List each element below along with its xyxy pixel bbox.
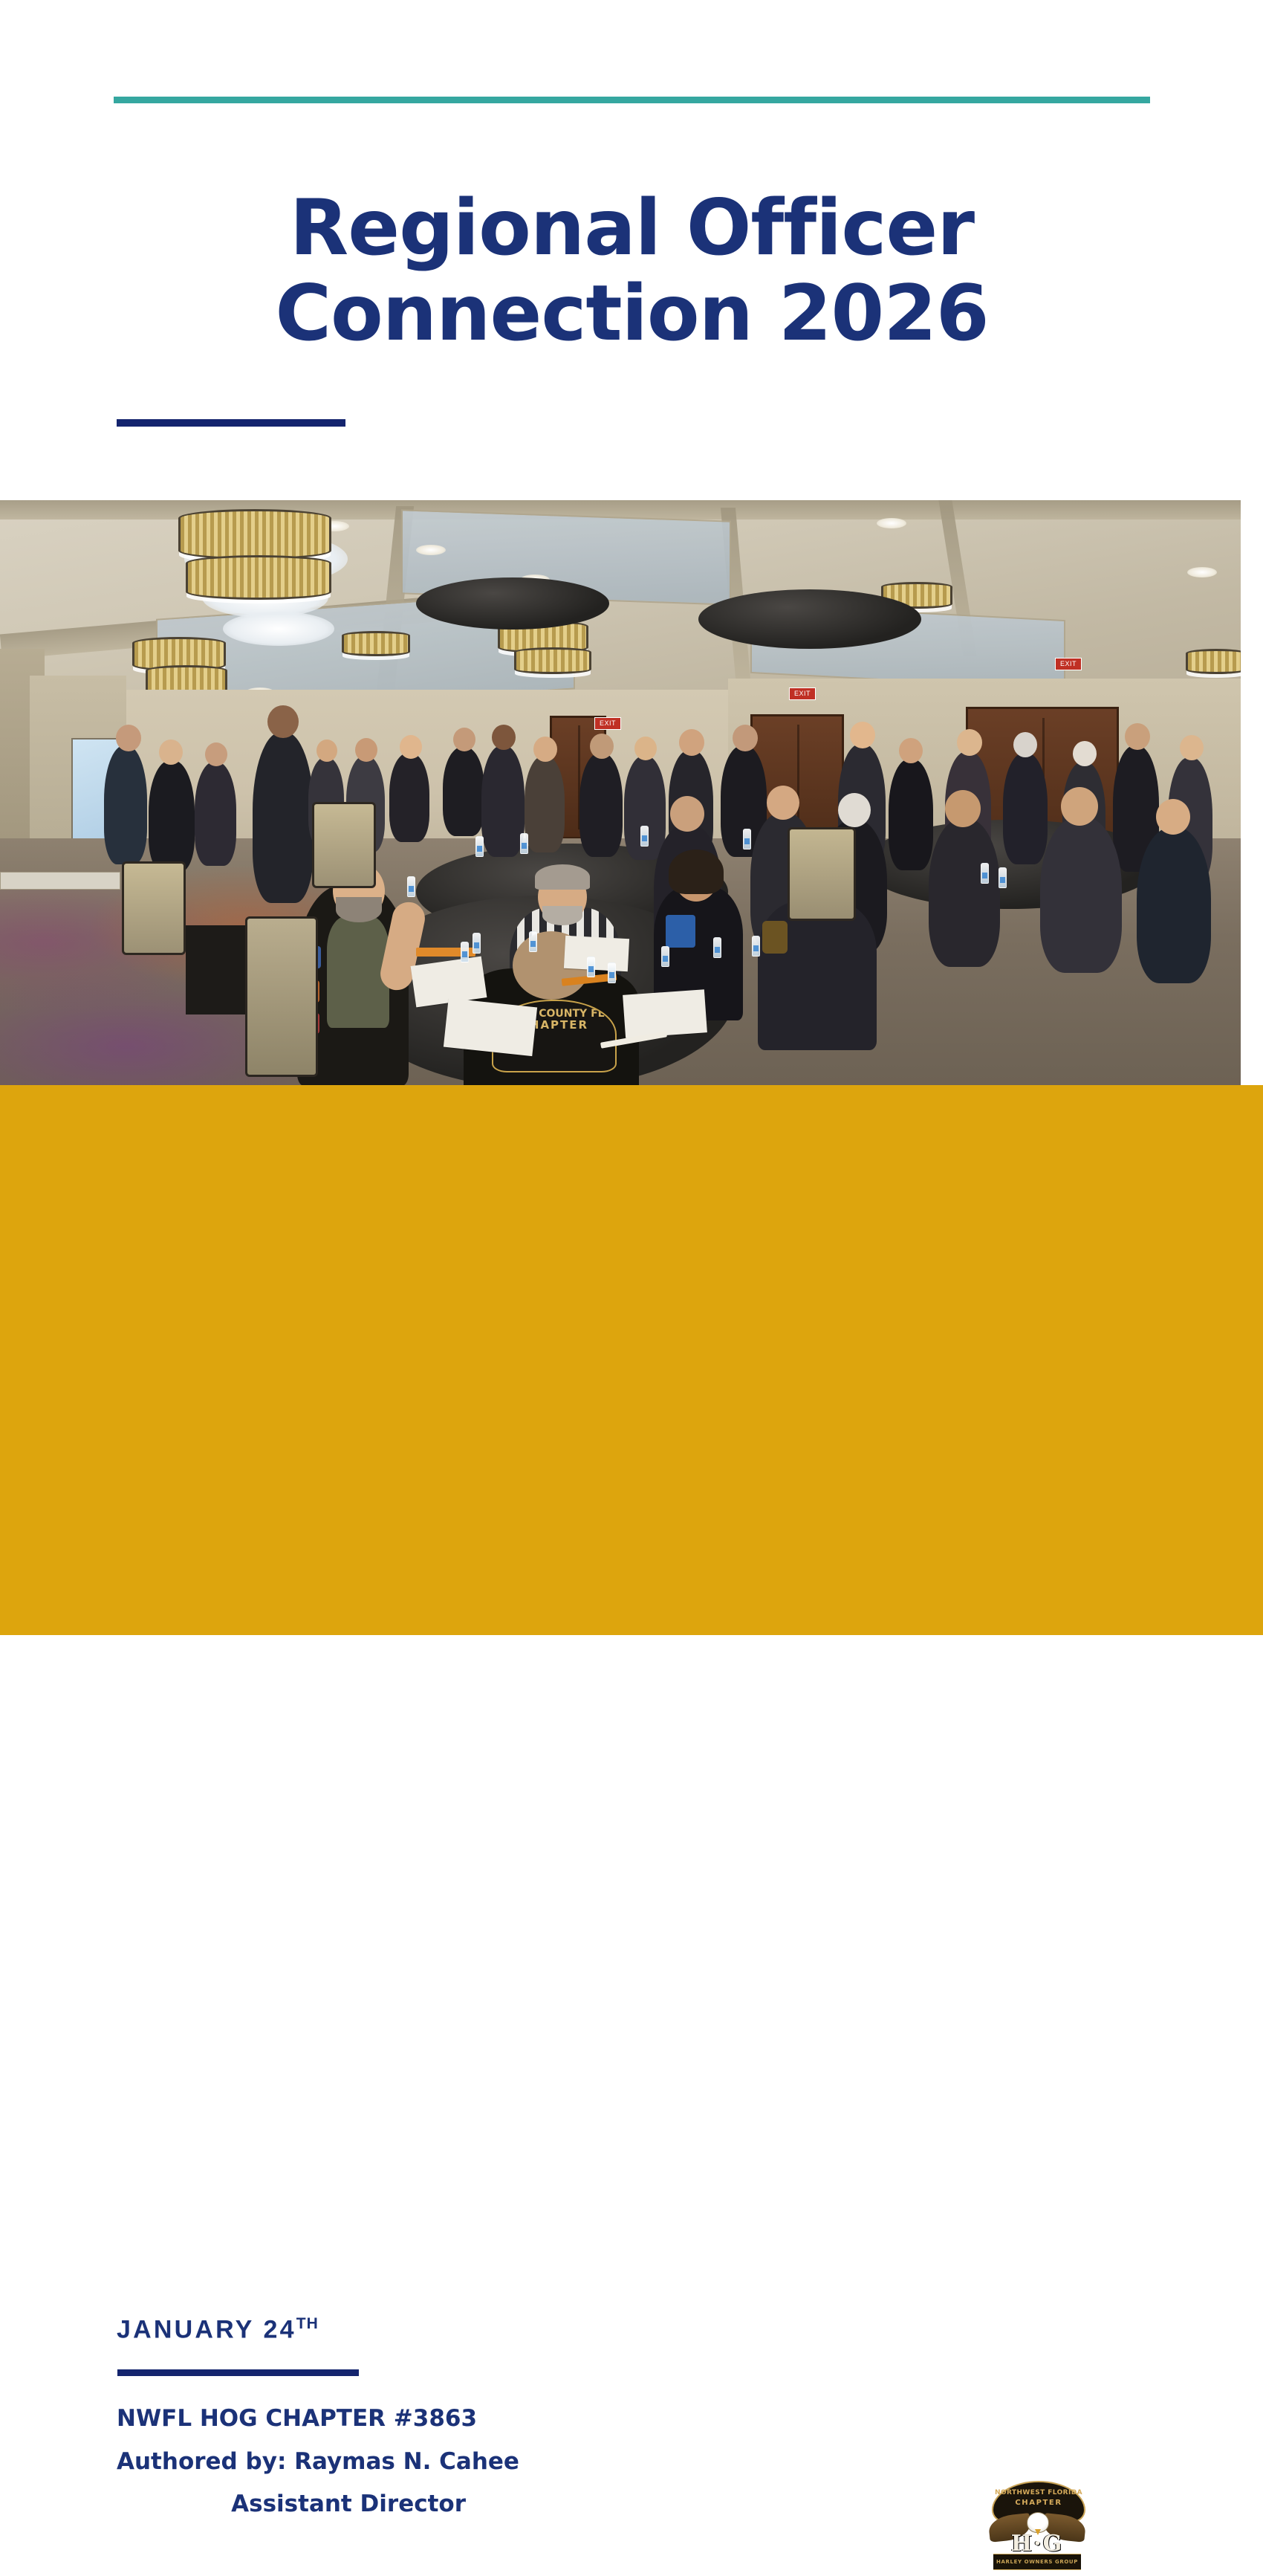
logo-arc-line2: CHAPTER	[993, 2499, 1084, 2507]
attendee-head	[205, 742, 227, 766]
event-date-suffix: TH	[296, 2315, 319, 2332]
vest-patch-small	[762, 921, 788, 954]
water-bottle	[713, 937, 721, 958]
exit-sign: EXIT	[1055, 658, 1082, 670]
attendee-head	[116, 725, 141, 751]
title-underline-rule	[117, 419, 345, 427]
author-role-line: Assistant Director	[117, 2490, 533, 2520]
attendee-seated	[1040, 817, 1122, 973]
event-date: JANUARY 24TH	[117, 2315, 319, 2344]
attendee-head	[957, 729, 982, 756]
attendee-head	[1156, 799, 1190, 835]
banquet-chair	[788, 827, 856, 921]
author-line: Authored by: Raymas N. Cahee	[117, 2447, 533, 2477]
exit-sign: EXIT	[789, 687, 816, 700]
attendee-head	[533, 737, 557, 762]
hog-monogram: H·G	[996, 2531, 1078, 2557]
attendee-head	[492, 725, 516, 750]
water-bottle	[640, 826, 649, 847]
logo-ribbon-text: HARLEY OWNERS GROUP	[993, 2554, 1081, 2570]
cover-header-band: Regional Officer Connection 2026	[0, 0, 1263, 500]
water-bottle	[999, 867, 1007, 888]
service-table	[0, 872, 120, 890]
attendee	[525, 756, 565, 852]
recessed-light	[416, 545, 446, 555]
recessed-light	[1187, 567, 1217, 577]
attendee-head	[899, 738, 923, 763]
cover-footer-band: JANUARY 24TH NWFL HOG CHAPTER #3863 Auth…	[0, 1085, 1263, 1635]
chandelier-glow	[223, 612, 334, 646]
title-block: Regional Officer Connection 2026	[114, 186, 1150, 357]
beard	[542, 906, 582, 925]
chandelier	[514, 647, 591, 674]
attendee-head	[838, 793, 871, 827]
attendee	[389, 753, 429, 842]
event-date-text: JANUARY 24	[117, 2315, 296, 2343]
attendee	[1003, 753, 1048, 864]
attendee-head	[679, 729, 704, 756]
attendee-head	[590, 734, 614, 759]
author-block: NWFL HOG CHAPTER #3863 Authored by: Raym…	[117, 2404, 533, 2520]
attendee-head	[670, 796, 704, 832]
attendee	[104, 745, 147, 864]
eagle-head-icon	[1027, 2512, 1049, 2533]
attendee	[889, 759, 933, 870]
attendee-head	[1073, 741, 1097, 766]
banquet-chair	[312, 802, 376, 888]
attendee-head	[1061, 787, 1098, 826]
attendee-head	[945, 790, 981, 827]
recessed-light	[877, 518, 906, 528]
chandelier	[1186, 649, 1241, 674]
attendee	[481, 745, 525, 857]
attendee-head	[850, 722, 875, 748]
attendee-head	[267, 705, 299, 738]
water-bottle	[475, 836, 484, 857]
attendee-head	[634, 737, 657, 760]
water-bottle	[529, 931, 537, 952]
attendee-seated	[929, 818, 1000, 967]
attendee-head	[355, 738, 377, 762]
water-bottle	[661, 946, 669, 967]
attendee-head	[400, 735, 422, 759]
beard	[336, 897, 382, 922]
attendee-head	[1180, 735, 1204, 760]
water-bottle	[587, 957, 595, 977]
attendee-head	[316, 740, 337, 762]
water-bottle	[743, 829, 751, 850]
attendee	[195, 762, 236, 866]
chandelier	[178, 509, 331, 560]
nwfl-hog-chapter-logo: NORTHWEST FLORIDA CHAPTER H·G HARLEY OWN…	[984, 2472, 1090, 2576]
chandelier	[342, 631, 410, 656]
exit-sign: EXIT	[594, 717, 621, 730]
water-bottle	[461, 942, 469, 962]
chapter-line: NWFL HOG CHAPTER #3863	[117, 2404, 533, 2434]
attendee	[253, 732, 314, 903]
attendee-head	[1013, 732, 1037, 757]
banquet-chair	[245, 916, 318, 1077]
water-bottle	[520, 833, 528, 854]
banquet-chair	[122, 861, 186, 955]
attendee	[443, 747, 484, 836]
water-bottle	[407, 876, 415, 897]
round-table	[416, 577, 609, 630]
water-bottle	[981, 863, 989, 884]
page-title: Regional Officer Connection 2026	[114, 186, 1150, 357]
cover-photo: EXIT EXIT EXIT	[0, 500, 1241, 1085]
attendee-head	[1125, 723, 1150, 750]
vest-patch-small	[666, 915, 695, 948]
water-bottle	[473, 933, 481, 954]
paper-document	[444, 998, 537, 1056]
logo-arc-line1: NORTHWEST FLORIDA	[993, 2489, 1084, 2496]
attendee-seated	[1137, 827, 1211, 983]
water-bottle	[608, 962, 616, 983]
water-bottle	[752, 936, 760, 957]
hair	[669, 850, 724, 894]
attendee-head	[733, 725, 758, 751]
date-underline-rule	[117, 2369, 359, 2376]
attendee-head	[159, 740, 183, 765]
attendee-head	[767, 786, 799, 820]
attendee	[579, 753, 623, 857]
chandelier	[186, 555, 331, 600]
hair	[535, 864, 590, 890]
paper-document	[564, 936, 629, 971]
round-table	[698, 589, 921, 649]
attendee-head	[453, 728, 475, 751]
attendee	[149, 760, 195, 872]
teal-divider-rule	[114, 97, 1150, 103]
